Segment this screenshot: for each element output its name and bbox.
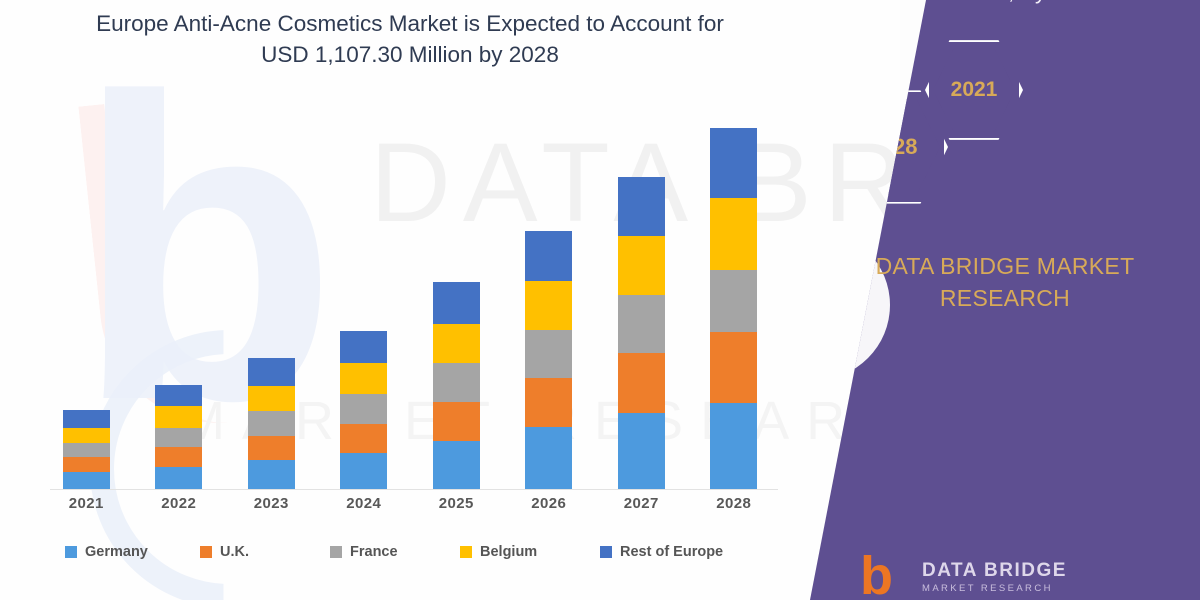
bar-slot [688, 111, 781, 489]
bar-segment[interactable] [618, 413, 665, 489]
bar-segment[interactable] [525, 427, 572, 489]
bar-segment[interactable] [433, 324, 480, 364]
bar-segment[interactable] [525, 378, 572, 427]
x-axis-labels: 20212022202320242025202620272028 [40, 495, 780, 519]
bar-segment[interactable] [155, 447, 202, 466]
legend-label: Rest of Europe [620, 544, 723, 560]
legend-item[interactable]: Rest of Europe [600, 544, 723, 560]
bar-segment[interactable] [433, 402, 480, 441]
legend-swatch-icon [460, 546, 472, 558]
footer-logo: b DATA BRIDGE MARKET RESEARCH [860, 552, 1160, 600]
infographic-canvas: b DATA BRIDGE MARKET RESEARCH Europe Ant… [0, 0, 1200, 600]
bar-segment[interactable] [433, 282, 480, 324]
chart-bars [40, 111, 780, 489]
legend-label: France [350, 544, 398, 560]
bar-segment[interactable] [618, 236, 665, 295]
bar-segment[interactable] [618, 353, 665, 413]
bar-segment[interactable] [710, 270, 757, 331]
x-axis-label: 2021 [40, 495, 133, 519]
page-title: Europe Anti-Acne Cosmetics Market is Exp… [60, 8, 760, 70]
x-axis-label: 2028 [688, 495, 781, 519]
title-line-1: Europe Anti-Acne Cosmetics Market is Exp… [60, 8, 760, 39]
x-axis-label: 2023 [225, 495, 318, 519]
bar-segment[interactable] [63, 457, 110, 471]
bar-segment[interactable] [433, 363, 480, 402]
bar-segment[interactable] [340, 331, 387, 364]
bar-segment[interactable] [248, 460, 295, 489]
bar-slot [225, 111, 318, 489]
x-axis-label: 2026 [503, 495, 596, 519]
bar-segment[interactable] [155, 385, 202, 406]
legend-swatch-icon [600, 546, 612, 558]
bar-segment[interactable] [63, 472, 110, 489]
bar-segment[interactable] [340, 394, 387, 424]
bar-segment[interactable] [155, 428, 202, 447]
stacked-bar[interactable] [340, 331, 387, 489]
logo-mark-icon: b [860, 554, 904, 600]
legend-item[interactable]: Belgium [460, 544, 537, 560]
legend-label: Belgium [480, 544, 537, 560]
bar-segment[interactable] [710, 198, 757, 271]
logo-subtitle: MARKET RESEARCH [922, 583, 1160, 594]
bar-segment[interactable] [63, 428, 110, 443]
legend-item[interactable]: Germany [65, 544, 148, 560]
legend-swatch-icon [330, 546, 342, 558]
bar-slot [133, 111, 226, 489]
bar-slot [318, 111, 411, 489]
bar-segment[interactable] [63, 443, 110, 457]
legend-swatch-icon [200, 546, 212, 558]
logo-name: DATA BRIDGE [922, 560, 1152, 582]
legend-label: U.K. [220, 544, 249, 560]
x-axis-label: 2024 [318, 495, 411, 519]
bar-segment[interactable] [433, 441, 480, 489]
bar-segment[interactable] [248, 436, 295, 461]
bar-segment[interactable] [340, 363, 387, 394]
stacked-bar[interactable] [433, 282, 480, 489]
bar-slot [40, 111, 133, 489]
bar-slot [503, 111, 596, 489]
bar-segment[interactable] [710, 332, 757, 404]
stacked-bar[interactable] [525, 231, 572, 489]
stacked-bar[interactable] [155, 385, 202, 489]
legend-item[interactable]: U.K. [200, 544, 249, 560]
bar-slot [410, 111, 503, 489]
bar-segment[interactable] [340, 453, 387, 489]
x-axis-line [50, 489, 778, 490]
x-axis-label: 2025 [410, 495, 503, 519]
chart-legend: GermanyU.K.FranceBelgiumRest of Europe [40, 538, 780, 566]
bar-segment[interactable] [525, 330, 572, 378]
bar-segment[interactable] [618, 177, 665, 235]
bar-segment[interactable] [618, 295, 665, 353]
bar-segment[interactable] [248, 386, 295, 412]
bar-segment[interactable] [63, 410, 110, 427]
legend-item[interactable]: France [330, 544, 398, 560]
stacked-bar[interactable] [618, 177, 665, 489]
bar-segment[interactable] [710, 128, 757, 197]
legend-swatch-icon [65, 546, 77, 558]
x-axis-label: 2022 [133, 495, 226, 519]
hexagon-2021-label: 2021 [951, 78, 998, 102]
bar-segment[interactable] [525, 281, 572, 330]
title-line-2: USD 1,107.30 Million by 2028 [60, 39, 760, 70]
stacked-bar-chart [40, 110, 780, 490]
stacked-bar[interactable] [248, 358, 295, 489]
bar-slot [595, 111, 688, 489]
bar-segment[interactable] [155, 406, 202, 427]
bar-segment[interactable] [248, 411, 295, 436]
bar-segment[interactable] [710, 403, 757, 489]
legend-label: Germany [85, 544, 148, 560]
left-content-panel: b DATA BRIDGE MARKET RESEARCH Europe Ant… [0, 0, 900, 600]
bar-segment[interactable] [155, 467, 202, 489]
stacked-bar[interactable] [63, 410, 110, 489]
bar-segment[interactable] [525, 231, 572, 281]
stacked-bar[interactable] [710, 128, 757, 489]
bar-segment[interactable] [340, 424, 387, 454]
x-axis-label: 2027 [595, 495, 688, 519]
bar-segment[interactable] [248, 358, 295, 386]
